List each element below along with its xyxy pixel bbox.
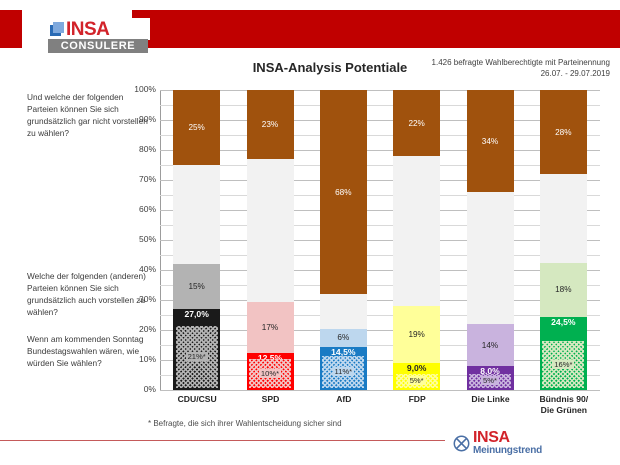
gridline-30 bbox=[160, 300, 600, 301]
segment-never-vote-label: 68% bbox=[335, 188, 351, 197]
segment-never-vote[interactable]: 34% bbox=[467, 90, 514, 192]
chart-column-fdp[interactable]: 22%19%9,0%5%*FDP bbox=[393, 90, 440, 390]
segment-never-vote[interactable]: 25% bbox=[173, 90, 220, 165]
gridline-45 bbox=[160, 255, 600, 256]
segment-never-vote-label: 25% bbox=[188, 123, 204, 132]
x-axis-category-label: SPD bbox=[236, 394, 306, 405]
gridline-40 bbox=[160, 270, 600, 271]
insa-meinungstrend-logo: INSA Meinungstrend bbox=[445, 428, 620, 458]
segment-sure-voters-label: 21%* bbox=[186, 352, 208, 361]
segment-sure-voters[interactable]: 5%* bbox=[469, 374, 511, 388]
y-axis-tick-70%: 70% bbox=[116, 174, 156, 184]
x-axis-category-label: Die Linke bbox=[456, 394, 526, 405]
gridline-50 bbox=[160, 240, 600, 241]
y-axis-tick-40%: 40% bbox=[116, 264, 156, 274]
gridline-75 bbox=[160, 165, 600, 166]
segment-potential[interactable]: 6% bbox=[320, 329, 367, 347]
logo-consulere-text: CONSULERE bbox=[48, 39, 148, 53]
gridline-60 bbox=[160, 210, 600, 211]
x-axis-category-label: Bündnis 90/Die Grünen bbox=[529, 394, 599, 416]
y-axis-tick-0%: 0% bbox=[116, 384, 156, 394]
chart-column-afd[interactable]: 68%6%14,5%11%*AfD bbox=[320, 90, 367, 390]
segment-vote-intention-label: 24,5% bbox=[551, 318, 575, 327]
y-axis-tick-100%: 100% bbox=[116, 84, 156, 94]
gridline-95 bbox=[160, 105, 600, 106]
segment-sure-voters[interactable]: 16%* bbox=[542, 341, 584, 388]
chart-column-cdu-csu[interactable]: 25%15%27,0%21%*CDU/CSU bbox=[173, 90, 220, 390]
footer-logo-insa: INSA bbox=[473, 430, 542, 445]
gridline-5 bbox=[160, 375, 600, 376]
x-axis-category-label: AfD bbox=[309, 394, 379, 405]
gridline-100 bbox=[160, 90, 600, 91]
x-axis-category-label: FDP bbox=[382, 394, 452, 405]
segment-sure-voters[interactable]: 21%* bbox=[176, 326, 218, 388]
gridline-90 bbox=[160, 120, 600, 121]
y-axis-tick-50%: 50% bbox=[116, 234, 156, 244]
segment-never-vote[interactable]: 68% bbox=[320, 90, 367, 294]
y-axis-tick-10%: 10% bbox=[116, 354, 156, 364]
footer-logo-meinungstrend: Meinungstrend bbox=[473, 445, 542, 456]
segment-potential-label: 19% bbox=[408, 330, 424, 339]
segment-sure-voters[interactable]: 5%* bbox=[396, 374, 438, 388]
subtitle-date-range: 26.07. - 29.07.2019 bbox=[400, 68, 610, 79]
segment-never-vote[interactable]: 28% bbox=[540, 90, 587, 174]
segment-potential[interactable]: 18% bbox=[540, 263, 587, 317]
segment-never-vote-label: 28% bbox=[555, 128, 571, 137]
segment-potential-label: 18% bbox=[555, 285, 571, 294]
insa-consulere-logo: INSA CONSULERE bbox=[22, 8, 132, 50]
segment-sure-voters-label: 5%* bbox=[408, 376, 426, 385]
chart-column-spd[interactable]: 23%17%12,5%10%*SPD bbox=[247, 90, 294, 390]
y-axis-tick-80%: 80% bbox=[116, 144, 156, 154]
segment-sure-voters[interactable]: 11%* bbox=[322, 356, 364, 388]
segment-sure-voters-label: 10%* bbox=[259, 369, 281, 378]
segment-never-vote-label: 23% bbox=[262, 120, 278, 129]
segment-vote-intention-label: 9,0% bbox=[407, 364, 427, 373]
segment-never-vote[interactable]: 23% bbox=[247, 90, 294, 159]
gridline-70 bbox=[160, 180, 600, 181]
gridline-65 bbox=[160, 195, 600, 196]
logo-insa-text: INSA bbox=[66, 20, 109, 39]
segment-never-vote[interactable]: 22% bbox=[393, 90, 440, 156]
segment-potential-label: 17% bbox=[262, 323, 278, 332]
segment-potential[interactable]: 14% bbox=[467, 324, 514, 366]
chart-column-b-ndnis-90-die-gr-nen[interactable]: 28%18%24,5%16%*Bündnis 90/Die Grünen bbox=[540, 90, 587, 390]
gridline-10 bbox=[160, 360, 600, 361]
segment-potential-label: 14% bbox=[482, 341, 498, 350]
gridline-55 bbox=[160, 225, 600, 226]
segment-sure-voters-label: 5%* bbox=[481, 376, 499, 385]
y-axis-tick-90%: 90% bbox=[116, 114, 156, 124]
segment-vote-intention-label: 27,0% bbox=[184, 310, 208, 319]
segment-never-vote-label: 34% bbox=[482, 137, 498, 146]
chart-subtitle: 1.426 befragte Wahlberechtigte mit Parte… bbox=[400, 57, 610, 79]
footnote: * Befragte, die sich ihrer Wahlentscheid… bbox=[148, 419, 342, 428]
y-axis-tick-60%: 60% bbox=[116, 204, 156, 214]
gridline-35 bbox=[160, 285, 600, 286]
segment-potential[interactable]: 19% bbox=[393, 306, 440, 363]
chart-plot-area: 0%10%20%30%40%50%60%70%80%90%100%25%15%2… bbox=[160, 90, 600, 390]
segment-potential[interactable]: 17% bbox=[247, 302, 294, 353]
gridline-25 bbox=[160, 315, 600, 316]
segment-potential-label: 6% bbox=[337, 333, 349, 342]
logo-top-row: INSA bbox=[48, 18, 150, 40]
segment-sure-voters-label: 11%* bbox=[333, 367, 355, 376]
x-axis-category-label: CDU/CSU bbox=[162, 394, 232, 405]
gridline-85 bbox=[160, 135, 600, 136]
segment-never-vote-label: 22% bbox=[408, 119, 424, 128]
y-axis-tick-20%: 20% bbox=[116, 324, 156, 334]
y-axis-tick-30%: 30% bbox=[116, 294, 156, 304]
chart-column-die-linke[interactable]: 34%14%8,0%5%*Die Linke bbox=[467, 90, 514, 390]
segment-sure-voters-label: 16%* bbox=[552, 360, 574, 369]
ballot-x-icon bbox=[453, 435, 470, 452]
segment-potential-label: 15% bbox=[188, 282, 204, 291]
subtitle-sample-size: 1.426 befragte Wahlberechtigte mit Parte… bbox=[400, 57, 610, 68]
cube-icon bbox=[50, 22, 65, 37]
gridline-15 bbox=[160, 345, 600, 346]
segment-sure-voters[interactable]: 10%* bbox=[249, 359, 291, 388]
gridline-0 bbox=[160, 390, 600, 391]
gridline-20 bbox=[160, 330, 600, 331]
segment-potential[interactable]: 15% bbox=[173, 264, 220, 309]
gridline-80 bbox=[160, 150, 600, 151]
